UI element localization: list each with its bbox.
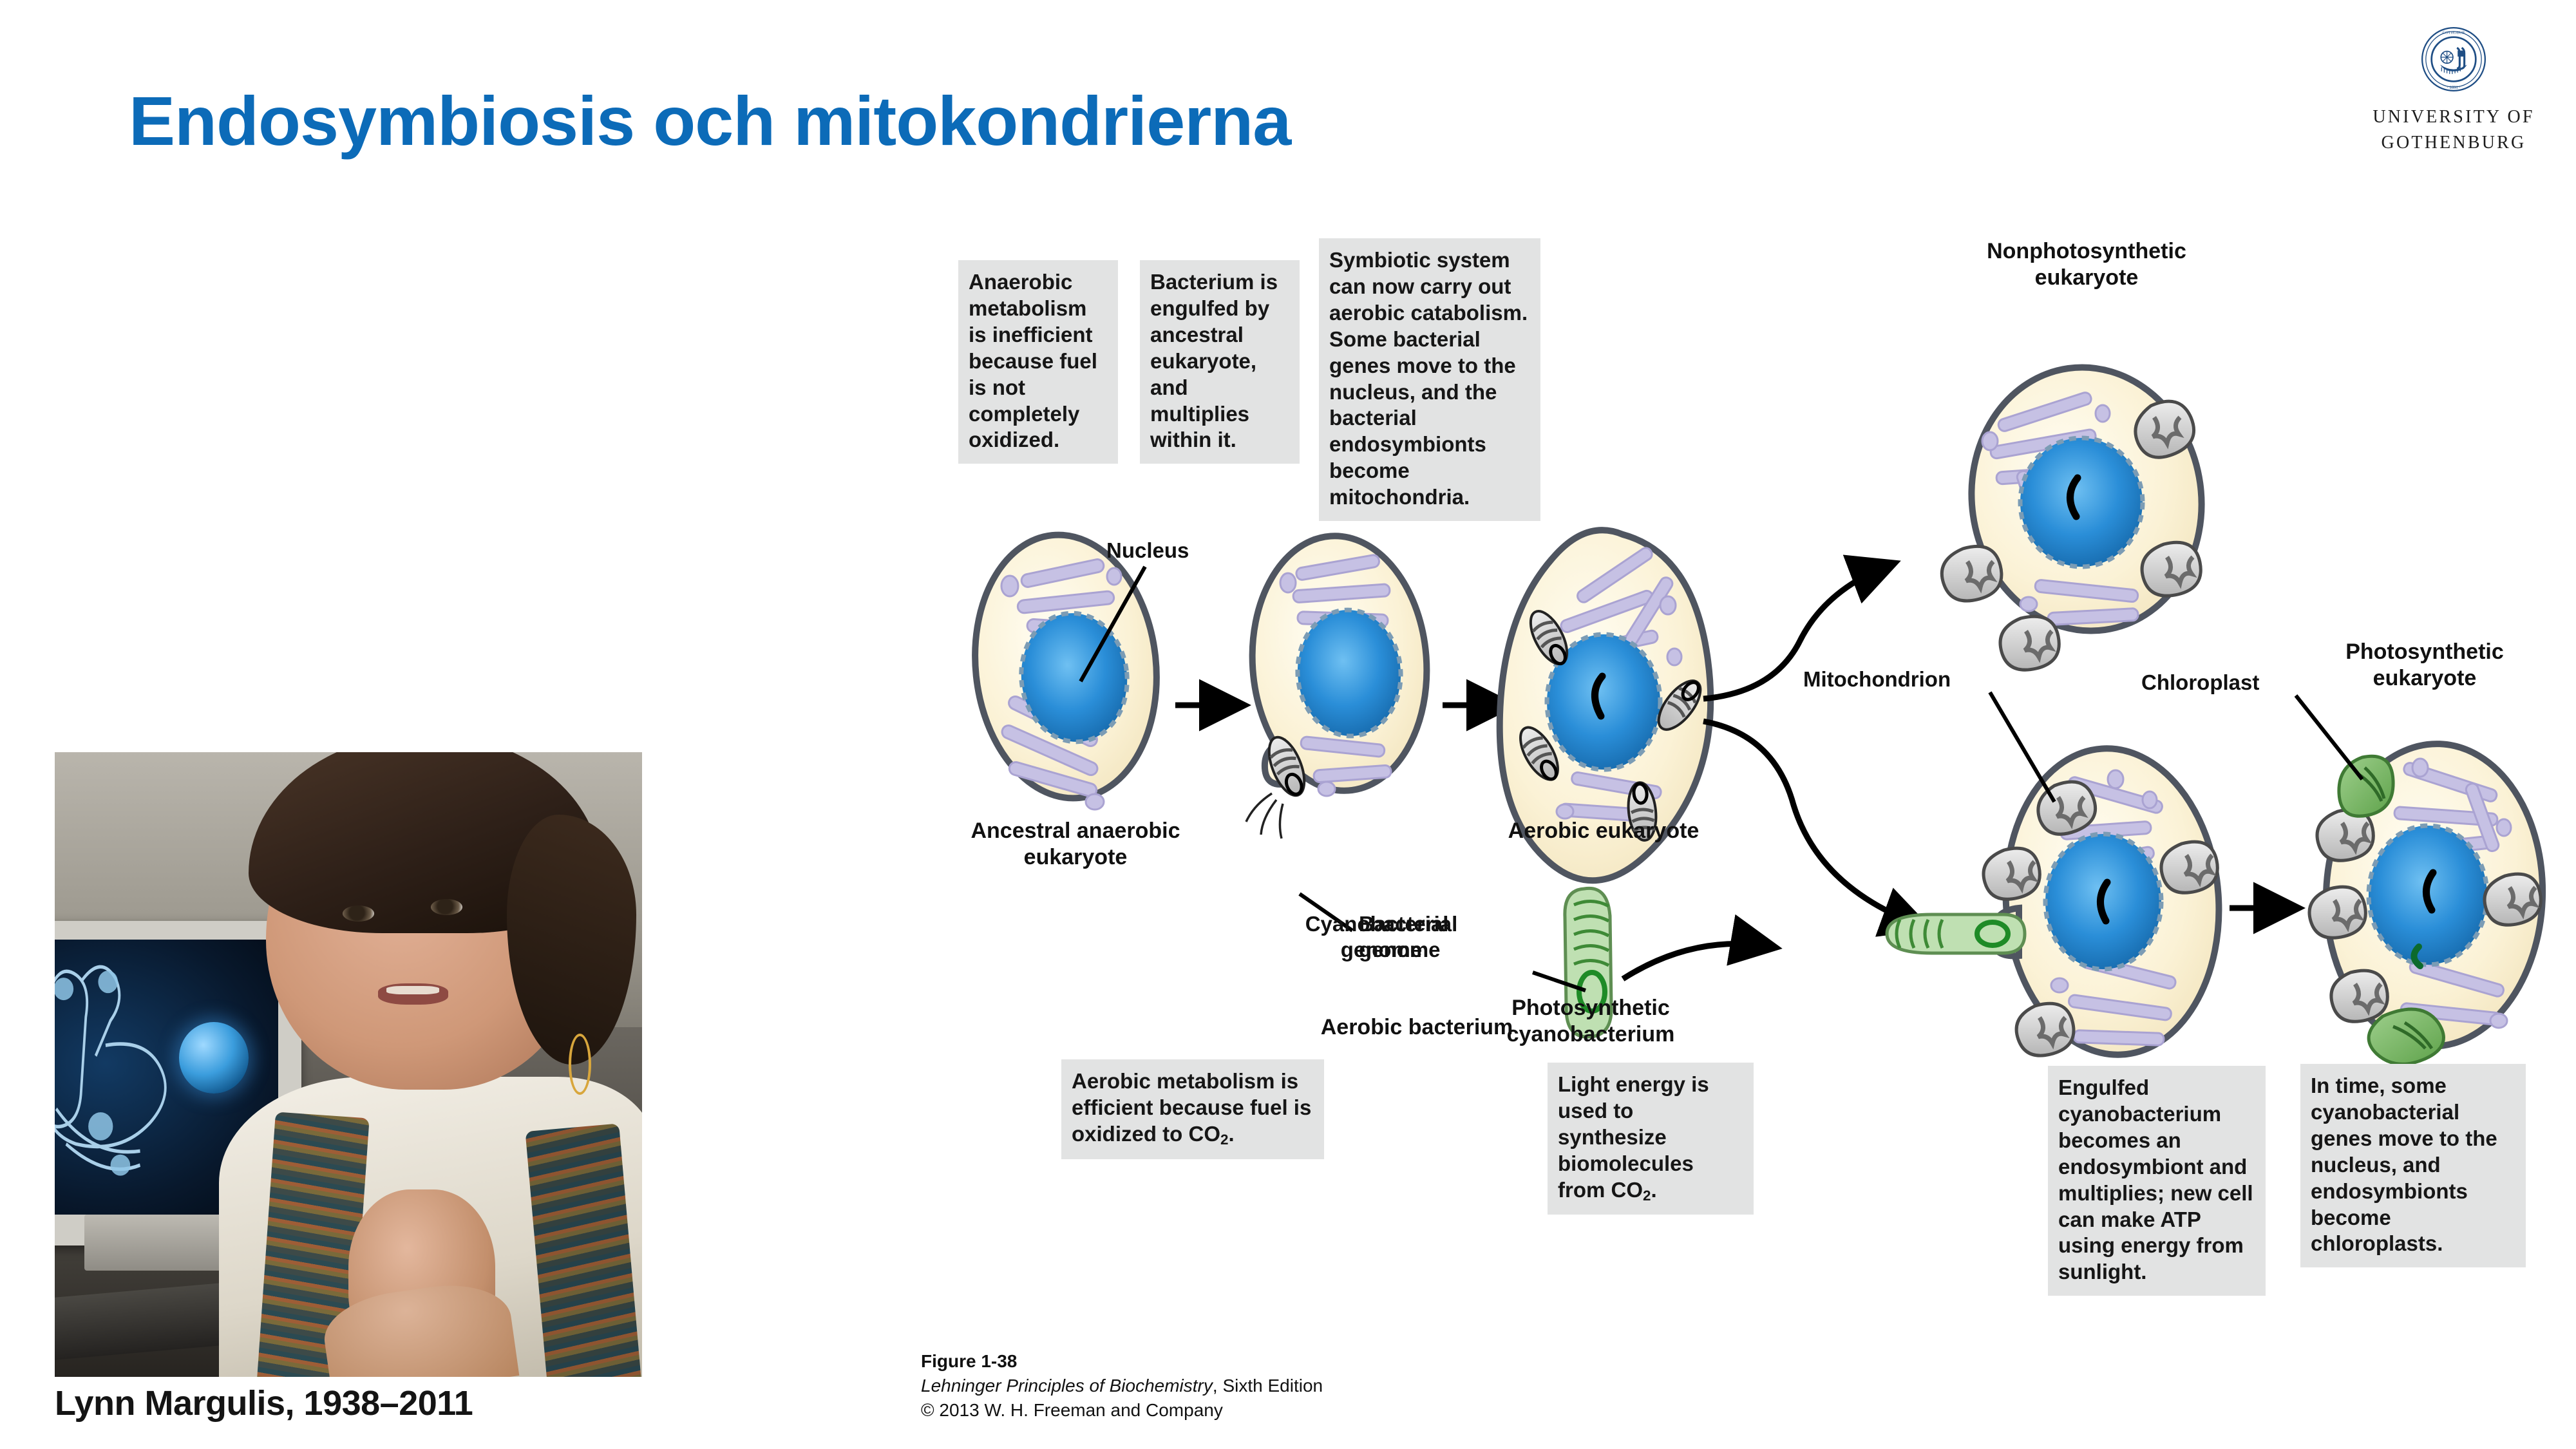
portrait-caption: Lynn Margulis, 1938–2011 <box>55 1383 647 1423</box>
lynn-margulis-photo <box>55 752 642 1377</box>
figure-source: Lehninger Principles of Biochemistry, Si… <box>921 1374 1323 1398</box>
label-mitochondrion: Mitochondrion <box>1803 667 1951 692</box>
label-cyanobacterial-genome: Cyanobacterial genome <box>1243 911 1520 962</box>
svg-text:· 1891 ·: · 1891 · <box>2447 86 2460 90</box>
leader-chloroplast <box>2296 696 2362 779</box>
cell-photosynthetic-eukaryote <box>2309 740 2548 1064</box>
callout-aerobic-metabolism: Aerobic metabolism is efficient because … <box>1061 1059 1324 1159</box>
cell-engulfing-bacterium <box>1244 530 1435 838</box>
leader-mitochondrion <box>1990 692 2054 802</box>
callout-in-time-genes: In time, some cyanobacterial genes move … <box>2300 1064 2526 1267</box>
figure-number: Figure 1-38 <box>921 1349 1323 1374</box>
callout-anaerobic-metabolism: Anaerobic metabolism is inefficient beca… <box>958 260 1118 464</box>
label-chloroplast: Chloroplast <box>2141 670 2259 696</box>
cell-ancestral-anaerobic-eukaryote <box>962 526 1169 810</box>
label-photosynthetic-cyanobacterium: Photosynthetic cyanobacterium <box>1462 995 1719 1048</box>
endosymbiosis-figure: Anaerobic metabolism is inefficient beca… <box>902 245 2576 1378</box>
callout-light-energy: Light energy is used to synthesize biomo… <box>1548 1063 1754 1215</box>
label-aerobic-eukaryote: Aerobic eukaryote <box>1468 818 1739 844</box>
svg-text:GOTHOBUR: GOTHOBUR <box>2443 30 2465 35</box>
page-title: Endosymbiosis och mitokondrierna <box>129 80 1291 161</box>
university-seal-icon: GOTHOBUR · 1891 · <box>2420 26 2487 93</box>
portrait-image <box>55 752 642 1377</box>
figure-credit: Figure 1-38 Lehninger Principles of Bioc… <box>921 1349 1323 1422</box>
arrow-cyanobacterium-engulf <box>1623 944 1771 979</box>
logo-wordmark-line2: GOTHENBURG <box>2370 130 2537 156</box>
label-photosynthetic-eukaryote: Photosynthetic eukaryote <box>2286 639 2563 692</box>
engulfed-cyanobacterium-shape <box>1887 914 2025 953</box>
logo-wordmark-line1: UNIVERSITY OF <box>2370 104 2537 130</box>
cell-nonphotosynthetic-eukaryote <box>1942 352 2218 670</box>
university-logo: GOTHOBUR · 1891 · UNIVERSITY OF GOTHENBU… <box>2370 26 2537 156</box>
figure-copyright: © 2013 W. H. Freeman and Company <box>921 1398 1323 1423</box>
cell-engulfing-cyanobacterium <box>1887 741 2229 1062</box>
callout-engulfed-cyanobacterium: Engulfed cyanobacterium becomes an endos… <box>2048 1066 2266 1296</box>
callout-bacterium-engulfed: Bacterium is engulfed by ancestral eukar… <box>1140 260 1300 464</box>
label-ancestral-anaerobic-eukaryote: Ancestral anaerobic eukaryote <box>947 818 1204 871</box>
label-nonphotosynthetic-eukaryote: Nonphotosynthetic eukaryote <box>1919 238 2254 291</box>
callout-symbiotic-system: Symbiotic system can now carry out aerob… <box>1319 238 1540 521</box>
label-nucleus: Nucleus <box>1106 538 1189 563</box>
